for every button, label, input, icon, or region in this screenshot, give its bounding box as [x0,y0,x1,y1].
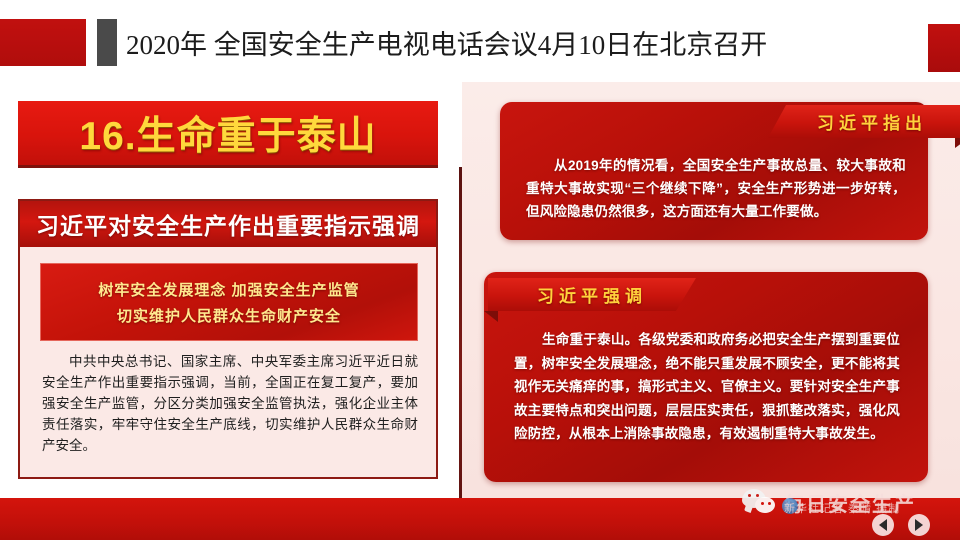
credit-text: 新华社记者 秦晴 摄制 [784,500,934,516]
right-column: 习近平指出 从2019年的情况看，全国安全生产事故总量、较大事故和重特大事故实现… [462,82,960,498]
slide-header: 2020年 全国安全生产电视电话会议4月10日在北京召开 [0,0,960,82]
quote-card-1-text: 从2019年的情况看，全国安全生产事故总量、较大事故和重特大事故实现“三个继续下… [526,154,906,223]
header-red-block-right [928,24,960,72]
left-card-header: 习近平对安全生产作出重要指示强调 [20,201,436,247]
quote-card-2-text: 生命重于泰山。各级党委和政府务必把安全生产摆到重要位置，树牢安全发展理念，绝不能… [514,328,900,446]
quote-card-2: 习近平强调 生命重于泰山。各级党委和政府务必把安全生产摆到重要位置，树牢安全发展… [484,272,928,482]
left-body-paragraph: 中共中央总书记、国家主席、中央军委主席习近平近日就安全生产作出重要指示强调，当前… [42,351,418,456]
left-content-card: 习近平对安全生产作出重要指示强调 树牢安全发展理念 加强安全生产监管 切实维护人… [18,199,438,479]
prev-slide-button[interactable] [872,514,894,536]
ribbon-banner-2-text: 习近平强调 [537,282,647,307]
ribbon-banner-2: 习近平强调 [488,278,696,311]
quote-card-1: 习近平指出 从2019年的情况看，全国安全生产事故总量、较大事故和重特大事故实现… [500,102,928,240]
ribbon-banner-1-text: 习近平指出 [817,109,927,134]
left-card-header-text: 习近平对安全生产作出重要指示强调 [36,207,420,241]
header-gray-bar [97,19,117,66]
lead-title-text: 16.生命重于泰山 [79,105,376,161]
left-column: 16.生命重于泰山 习近平对安全生产作出重要指示强调 树牢安全发展理念 加强安全… [0,82,459,498]
slogan-line-1: 树牢安全发展理念 加强安全生产监管 [98,279,359,300]
chevron-right-icon [915,519,923,531]
lead-title-banner: 16.生命重于泰山 [18,101,438,168]
slide-canvas: 2020年 全国安全生产电视电话会议4月10日在北京召开 16.生命重于泰山 习… [0,0,960,540]
ribbon-banner-1: 习近平指出 [768,105,960,138]
slogan-box: 树牢安全发展理念 加强安全生产监管 切实维护人民群众生命财产安全 [40,263,418,341]
next-slide-button[interactable] [908,514,930,536]
slide-body: 16.生命重于泰山 习近平对安全生产作出重要指示强调 树牢安全发展理念 加强安全… [0,82,960,498]
header-red-block-left [0,19,86,66]
slogan-line-2: 切实维护人民群众生命财产安全 [117,305,341,326]
ribbon-banner-2-tail [484,311,498,322]
chevron-left-icon [879,519,887,531]
page-title: 2020年 全国安全生产电视电话会议4月10日在北京召开 [126,18,916,66]
wechat-icon [742,489,776,515]
ribbon-banner-1-tail [955,138,960,148]
column-divider [459,167,462,540]
